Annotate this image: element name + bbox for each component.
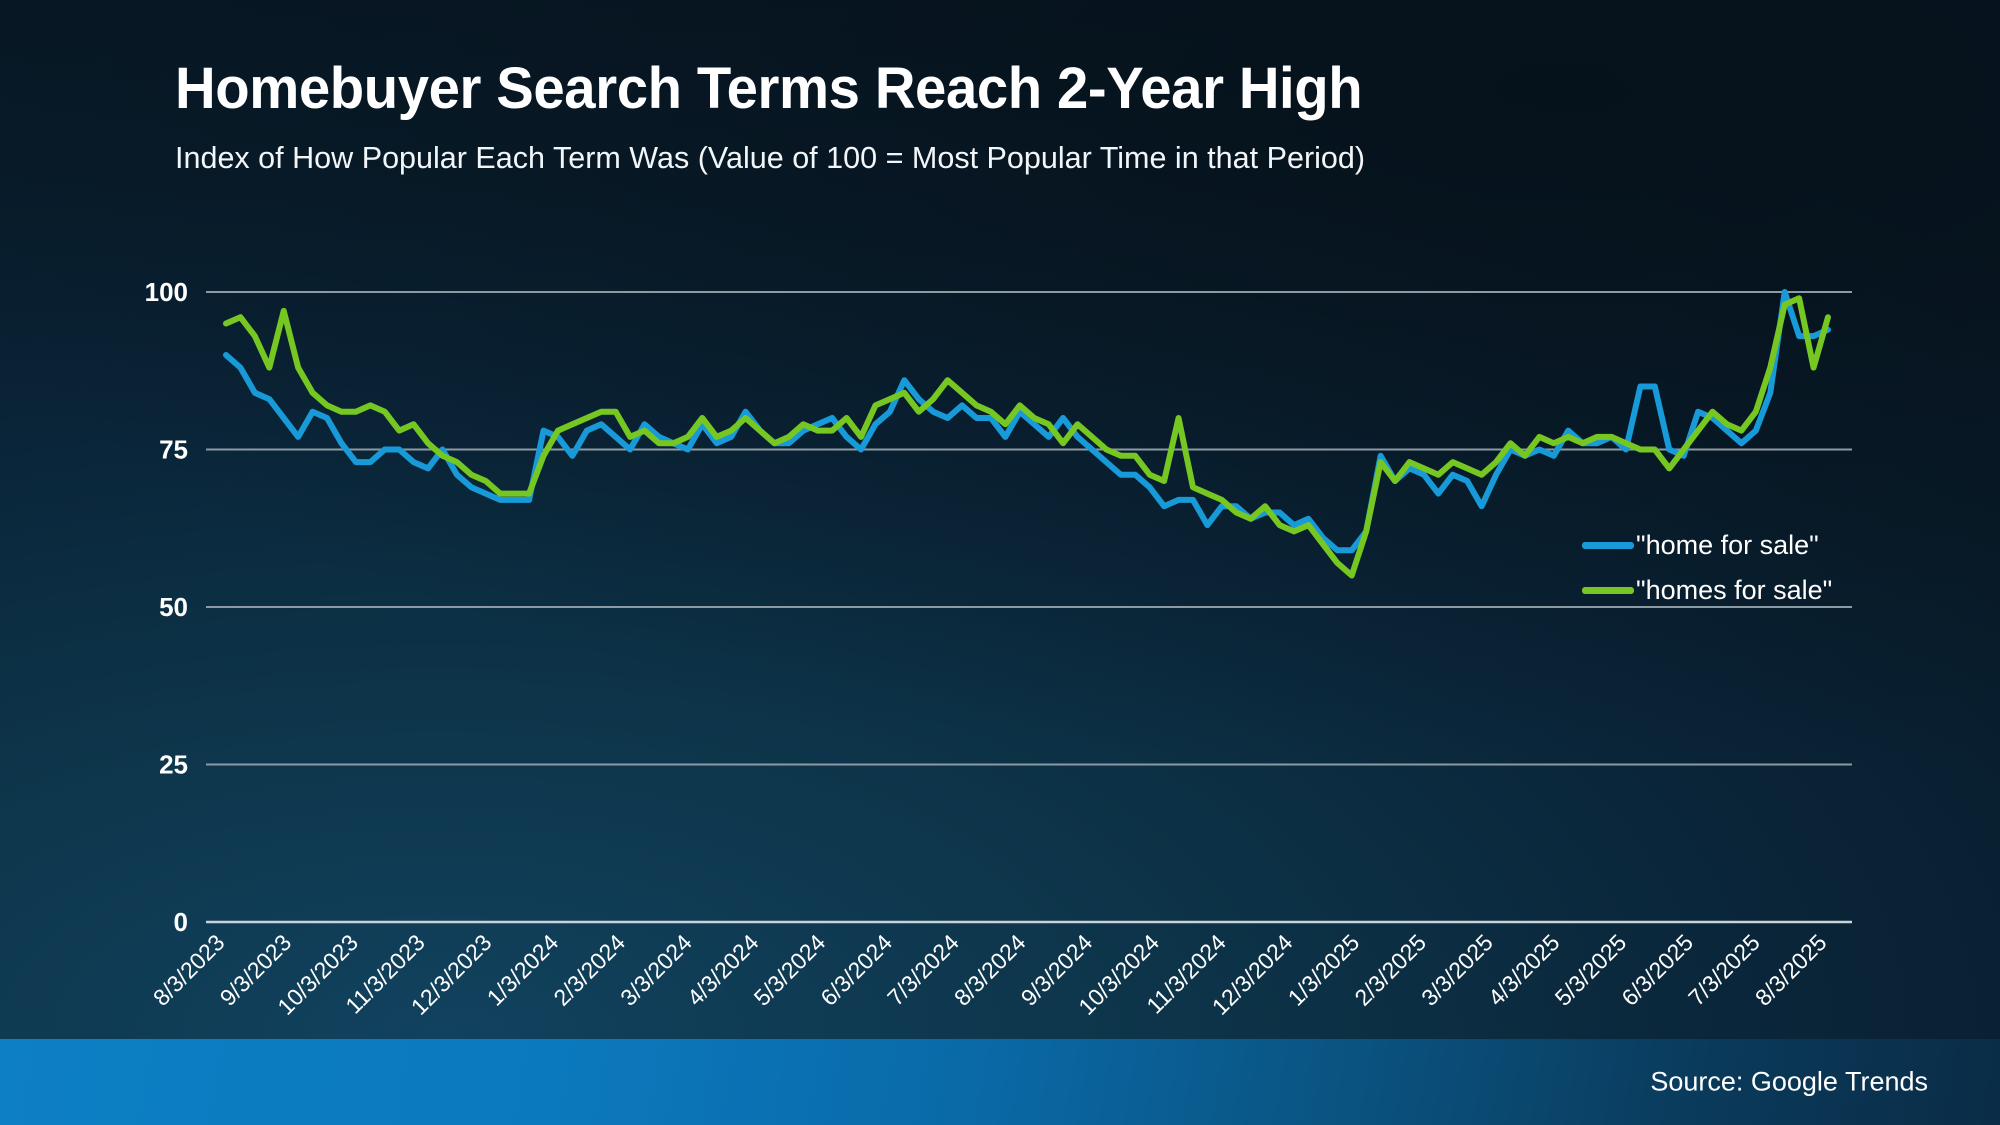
x-axis-tick-label: 7/3/2024 xyxy=(882,929,964,1011)
x-axis-tick-label: 3/3/2025 xyxy=(1416,929,1498,1011)
x-axis-tick-label: 6/3/2025 xyxy=(1616,929,1698,1011)
x-axis-tick-label: 8/3/2024 xyxy=(949,929,1031,1011)
x-axis-tick-labels: 8/3/20239/3/202310/3/202311/3/202312/3/2… xyxy=(148,929,1832,1020)
legend-label-home-for-sale: "home for sale" xyxy=(1636,530,1819,561)
legend-swatch-green xyxy=(1582,587,1634,594)
x-axis-tick-label: 3/3/2024 xyxy=(615,929,697,1011)
chart-page: Homebuyer Search Terms Reach 2-Year High… xyxy=(0,0,2000,1125)
x-axis-tick-label: 4/3/2024 xyxy=(682,929,764,1011)
x-axis-tick-label: 6/3/2024 xyxy=(815,929,897,1011)
footer-bar: Source: Google Trends xyxy=(0,1039,2000,1125)
legend-item-home-for-sale[interactable]: "home for sale" xyxy=(1582,523,1912,568)
series-line-home-for-sale xyxy=(226,292,1828,550)
y-axis-tick-label: 25 xyxy=(159,750,188,780)
x-axis-tick-label: 8/3/2023 xyxy=(148,929,230,1011)
x-axis-tick-label: 5/3/2025 xyxy=(1550,929,1632,1011)
y-axis-tick-labels: 0255075100 xyxy=(145,277,188,937)
chart-legend: "home for sale" "homes for sale" xyxy=(1582,523,1912,613)
x-axis-tick-label: 2/3/2024 xyxy=(548,929,630,1011)
y-axis-tick-label: 75 xyxy=(159,435,188,465)
x-axis-tick-label: 1/3/2024 xyxy=(482,929,564,1011)
x-axis-tick-label: 7/3/2025 xyxy=(1683,929,1765,1011)
x-axis-tick-label: 8/3/2025 xyxy=(1750,929,1832,1011)
legend-swatch-blue xyxy=(1582,542,1634,549)
x-axis-tick-label: 4/3/2025 xyxy=(1483,929,1565,1011)
x-axis-tick-label: 2/3/2025 xyxy=(1349,929,1431,1011)
x-axis-tick-label: 5/3/2024 xyxy=(749,929,831,1011)
legend-label-homes-for-sale: "homes for sale" xyxy=(1636,575,1832,606)
source-attribution: Source: Google Trends xyxy=(1650,1067,1928,1098)
legend-item-homes-for-sale[interactable]: "homes for sale" xyxy=(1582,568,1912,613)
y-axis-tick-label: 100 xyxy=(145,277,188,307)
x-axis-tick-label: 1/3/2025 xyxy=(1283,929,1365,1011)
y-axis-tick-label: 0 xyxy=(174,907,188,937)
y-axis-tick-label: 50 xyxy=(159,592,188,622)
